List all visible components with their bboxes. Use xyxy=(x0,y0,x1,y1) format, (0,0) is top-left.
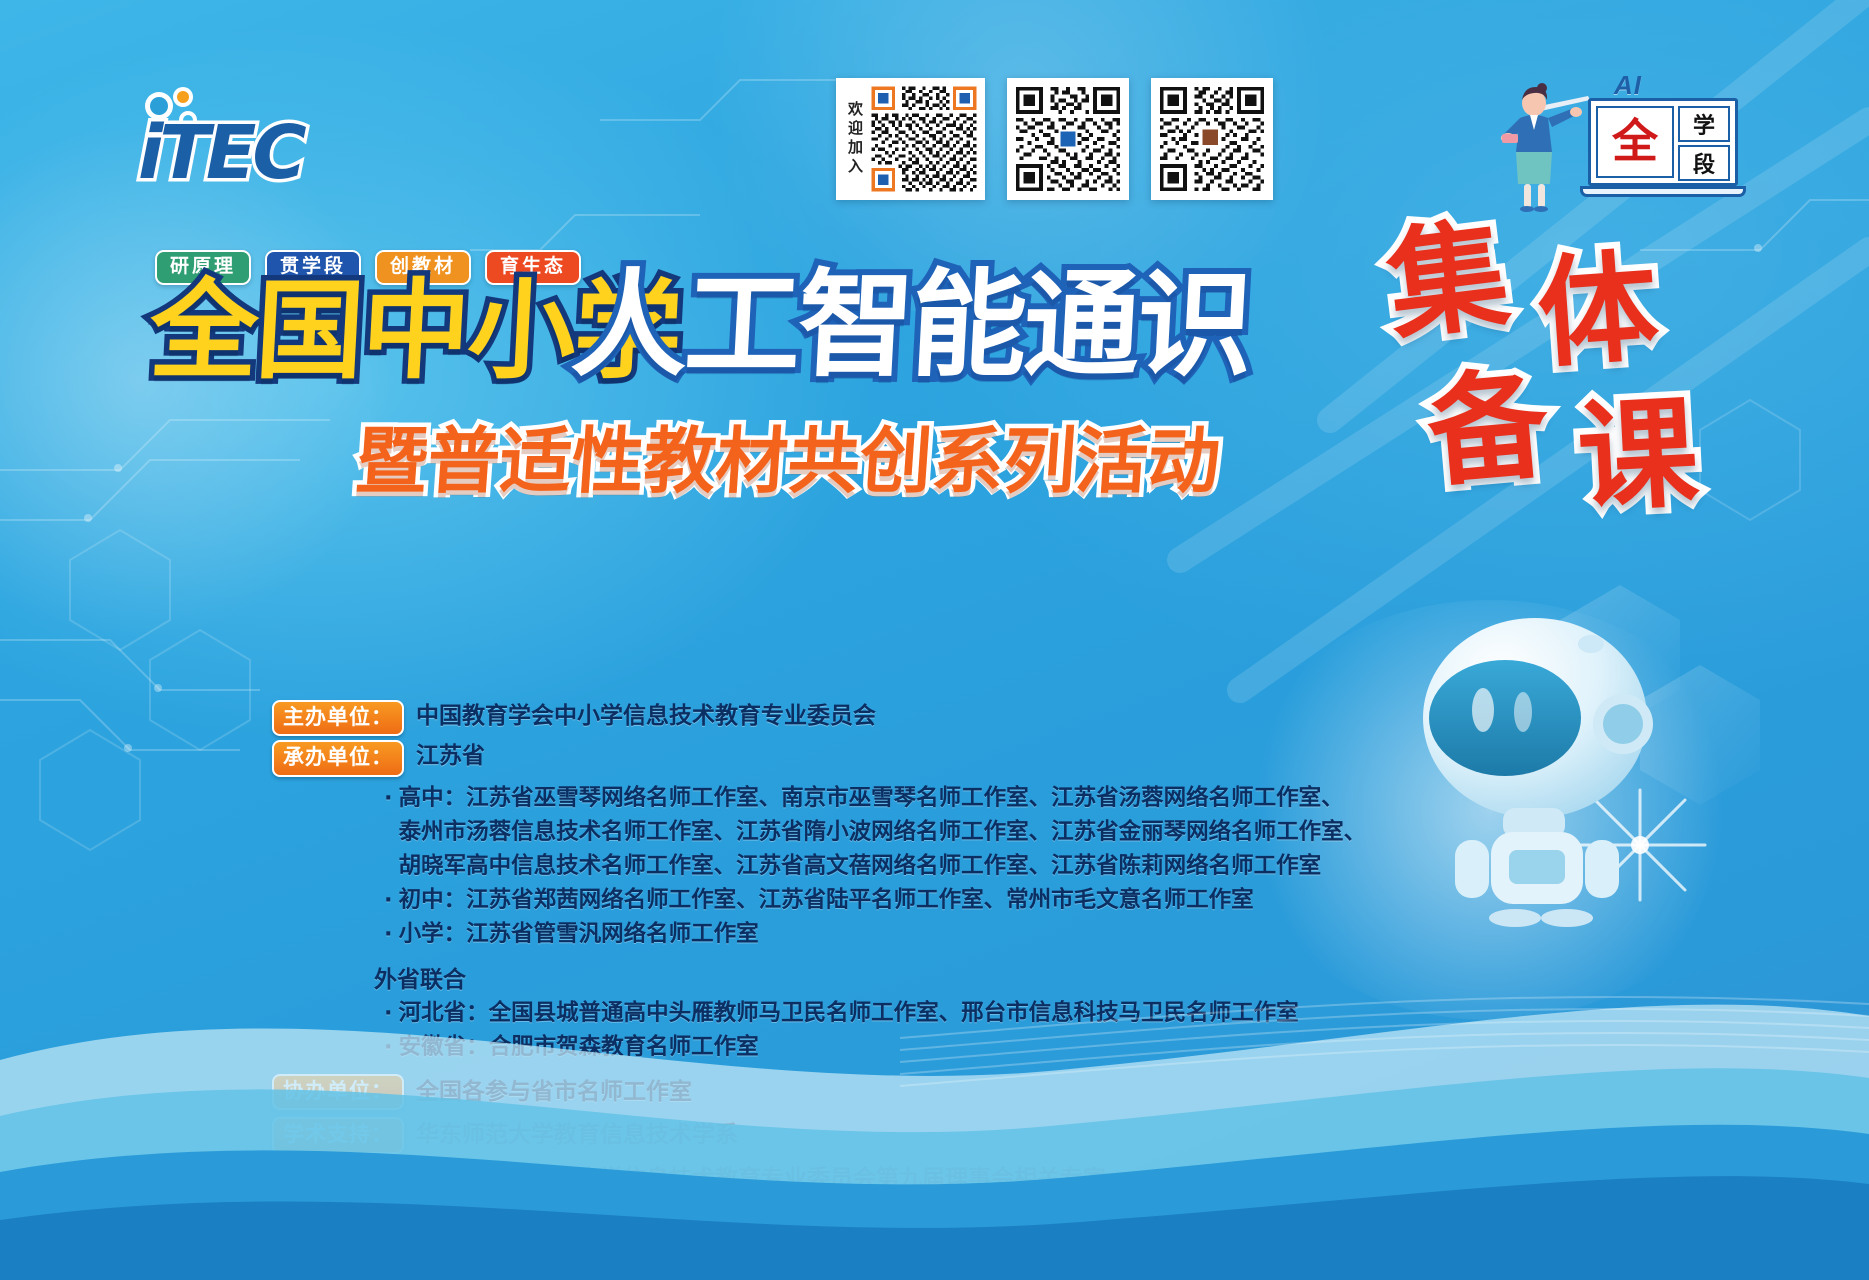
row-co-organizer: 协办单位： 全国各参与省市名师工作室 xyxy=(272,1074,1602,1110)
value-co-organizer: 全国各参与省市名师工作室 xyxy=(416,1076,692,1108)
badge-co-organizer: 协办单位： xyxy=(272,1074,404,1110)
value-advisors: 中国教育学会中小学信息技术教育专业委员会第九届理事会相关专家 xyxy=(416,1163,1106,1195)
list-item-primary: · 小学：江苏省管雪汎网络名师工作室 xyxy=(384,917,1602,951)
hebei-line-1: 河北省：全国县城普通高中头雁教师马卫民名师工作室、邢台市信息科技马卫民名师工作室 xyxy=(399,996,1602,1030)
senior-line-3: 胡晓军高中信息技术名师工作室、江苏省高文蓓网络名师工作室、江苏省陈莉网络名师工作… xyxy=(399,849,1602,883)
anhui-line-1: 安徽省：合肥市贺森教育名师工作室 xyxy=(399,1030,1602,1064)
badge-host: 承办单位： xyxy=(272,740,404,776)
qr-code-third[interactable] xyxy=(1151,78,1273,200)
badge-advisors: 指导顾问： xyxy=(272,1161,404,1197)
out-province-heading: 外省联合 xyxy=(374,960,1602,994)
qr-code-second[interactable] xyxy=(1007,78,1129,200)
qr-code-image-3 xyxy=(1156,83,1268,195)
list-item-junior: · 初中：江苏省郑茜网络名师工作室、江苏省陆平名师工作室、常州市毛文意名师工作室 xyxy=(384,883,1602,917)
row-advisors: 指导顾问： 中国教育学会中小学信息技术教育专业委员会第九届理事会相关专家 xyxy=(272,1161,1602,1197)
out-province-list: · 河北省：全国县城普通高中头雁教师马卫民名师工作室、邢台市信息科技马卫民名师工… xyxy=(384,996,1602,1064)
tail-rows: 协办单位： 全国各参与省市名师工作室 学术支持： 华东师范大学教育信息技术学系 … xyxy=(272,1074,1602,1197)
info-block: 主办单位： 中国教育学会中小学信息技术教育专业委员会 承办单位： 江苏省 · 高… xyxy=(272,700,1602,1204)
badge-char-quan: 全 xyxy=(1596,106,1674,178)
bullet-dot: · xyxy=(384,781,393,884)
row-host: 承办单位： 江苏省 xyxy=(272,740,1602,776)
badge-char-duan: 段 xyxy=(1678,145,1730,181)
ai-label: AI xyxy=(1614,70,1642,101)
host-groups-list: · 高中：江苏省巫雪琴网络名师工作室、南京市巫雪琴名师工作室、江苏省汤蓉网络名师… xyxy=(384,781,1602,952)
qr-code-row: 欢迎加入 xyxy=(836,78,1273,200)
junior-line-1: 初中：江苏省郑茜网络名师工作室、江苏省陆平名师工作室、常州市毛文意名师工作室 xyxy=(399,883,1602,917)
brush-char-1: 集 xyxy=(1381,215,1515,349)
senior-line-1: 高中：江苏省巫雪琴网络名师工作室、南京市巫雪琴名师工作室、江苏省汤蓉网络名师工作… xyxy=(399,785,1344,811)
qr-code-join[interactable]: 欢迎加入 xyxy=(836,78,985,200)
brush-char-4: 课 xyxy=(1575,394,1701,520)
ai-badge-block: AI 全 学 段 xyxy=(1500,70,1750,215)
badge-academic-support: 学术支持： xyxy=(272,1117,404,1153)
badge-char-xue: 学 xyxy=(1678,106,1730,142)
bullet-dot: · xyxy=(384,996,393,1030)
primary-line-1: 小学：江苏省管雪汎网络名师工作室 xyxy=(399,917,1602,951)
svg-text:iTEC: iTEC xyxy=(138,110,306,188)
bullet-dot: · xyxy=(384,1030,393,1064)
subtitle: 暨普适性教材共创系列活动 xyxy=(353,425,1222,497)
qr-code-image-2 xyxy=(1012,83,1124,195)
row-academic-support: 学术支持： 华东师范大学教育信息技术学系 xyxy=(272,1117,1602,1153)
badge-organizer: 主办单位： xyxy=(272,700,404,736)
laptop-screen: 全 学 段 xyxy=(1588,98,1738,186)
value-organizer: 中国教育学会中小学信息技术教育专业委员会 xyxy=(416,700,876,732)
bullet-dot: · xyxy=(384,917,393,951)
brush-char-3: 备 xyxy=(1423,365,1553,495)
list-item-senior-body: 高中：江苏省巫雪琴网络名师工作室、南京市巫雪琴名师工作室、江苏省汤蓉网络名师工作… xyxy=(399,781,1602,884)
qr-code-image-1 xyxy=(868,83,980,195)
brush-title: 集 体 备 课 xyxy=(1378,222,1798,542)
title-white: 人工智能通识 xyxy=(569,268,1253,384)
poster-root: iTEC 欢迎加入 xyxy=(0,0,1869,1280)
list-item-hebei: · 河北省：全国县城普通高中头雁教师马卫民名师工作室、邢台市信息科技马卫民名师工… xyxy=(384,996,1602,1030)
itec-logo: iTEC xyxy=(126,78,356,188)
value-host: 江苏省 xyxy=(416,740,485,772)
laptop-base xyxy=(1580,186,1746,197)
row-organizer: 主办单位： 中国教育学会中小学信息技术教育专业委员会 xyxy=(272,700,1602,736)
qr-side-label: 欢迎加入 xyxy=(841,83,868,195)
senior-line-2: 泰州市汤蓉信息技术名师工作室、江苏省隋小波网络名师工作室、江苏省金丽琴网络名师工… xyxy=(399,815,1602,849)
value-academic-support: 华东师范大学教育信息技术学系 xyxy=(416,1119,738,1151)
teacher-illustration xyxy=(1500,82,1592,212)
list-item-anhui: · 安徽省：合肥市贺森教育名师工作室 xyxy=(384,1030,1602,1064)
laptop-illustration: 全 学 段 xyxy=(1588,98,1748,204)
brush-char-2: 体 xyxy=(1534,248,1662,376)
list-item-senior: · 高中：江苏省巫雪琴网络名师工作室、南京市巫雪琴名师工作室、江苏省汤蓉网络名师… xyxy=(384,781,1602,884)
bullet-dot: · xyxy=(384,883,393,917)
